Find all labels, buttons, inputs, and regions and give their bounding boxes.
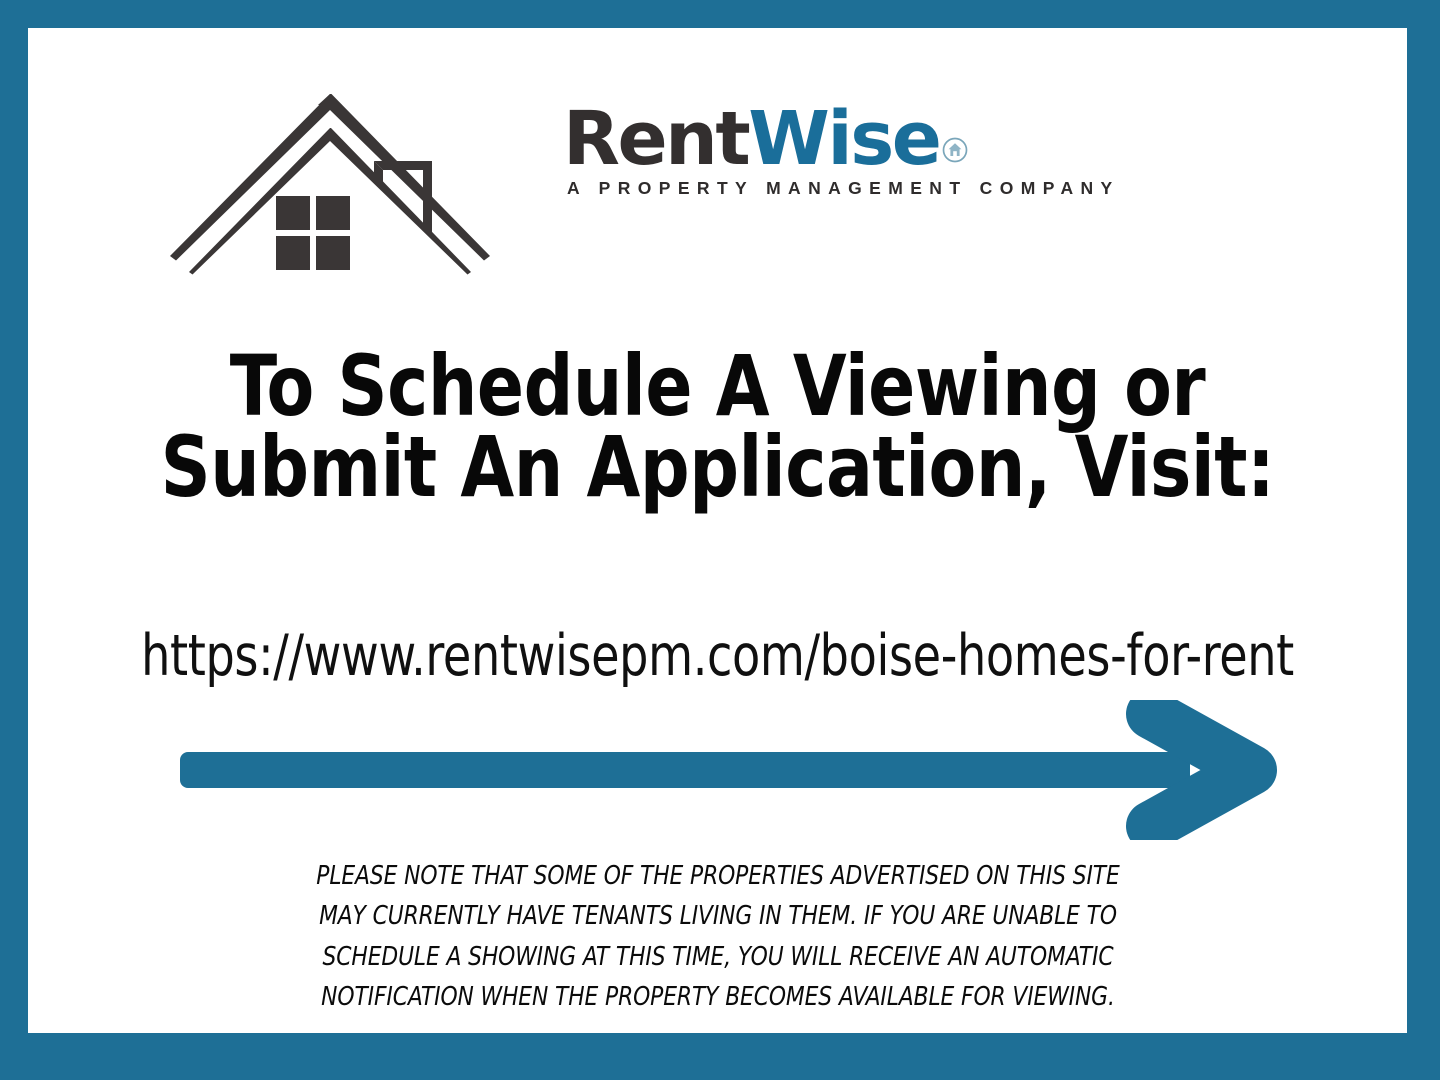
disclaimer-note: PLEASE NOTE THAT SOME OF THE PROPERTIES … (229, 856, 1208, 1017)
house-roof-chimney-window-icon (160, 88, 500, 284)
disclaimer-line-2: MAY CURRENTLY HAVE TENANTS LIVING IN THE… (229, 896, 1208, 936)
disclaimer-line-3: SCHEDULE A SHOWING AT THIS TIME, YOU WIL… (229, 937, 1208, 977)
website-url[interactable]: https://www.rentwisepm.com/boise-homes-f… (97, 623, 1338, 689)
page-title: To Schedule A Viewing or Submit An Appli… (83, 346, 1352, 507)
flyer-frame: RentWise A PROPERTY MANAGEMENT COMPANY T… (0, 0, 1440, 1080)
brand-name-rent: Rent (563, 96, 748, 182)
flyer-panel: RentWise A PROPERTY MANAGEMENT COMPANY T… (28, 28, 1407, 1033)
brand-name-wise: Wise (748, 96, 939, 182)
brand-wordmark: RentWise A PROPERTY MANAGEMENT COMPANY (533, 88, 1003, 284)
disclaimer-line-4: NOTIFICATION WHEN THE PROPERTY BECOMES A… (229, 977, 1208, 1017)
logo-block: RentWise A PROPERTY MANAGEMENT COMPANY (28, 80, 1407, 280)
brand-tagline: A PROPERTY MANAGEMENT COMPANY (567, 178, 1120, 199)
arrow-right-icon (176, 700, 1296, 840)
disclaimer-line-1: PLEASE NOTE THAT SOME OF THE PROPERTIES … (229, 856, 1208, 896)
circled-house-icon (942, 138, 968, 164)
page-title-line-2: Submit An Application, Visit: (83, 427, 1352, 508)
brand-name: RentWise (563, 102, 968, 176)
page-title-line-1: To Schedule A Viewing or (83, 346, 1352, 427)
